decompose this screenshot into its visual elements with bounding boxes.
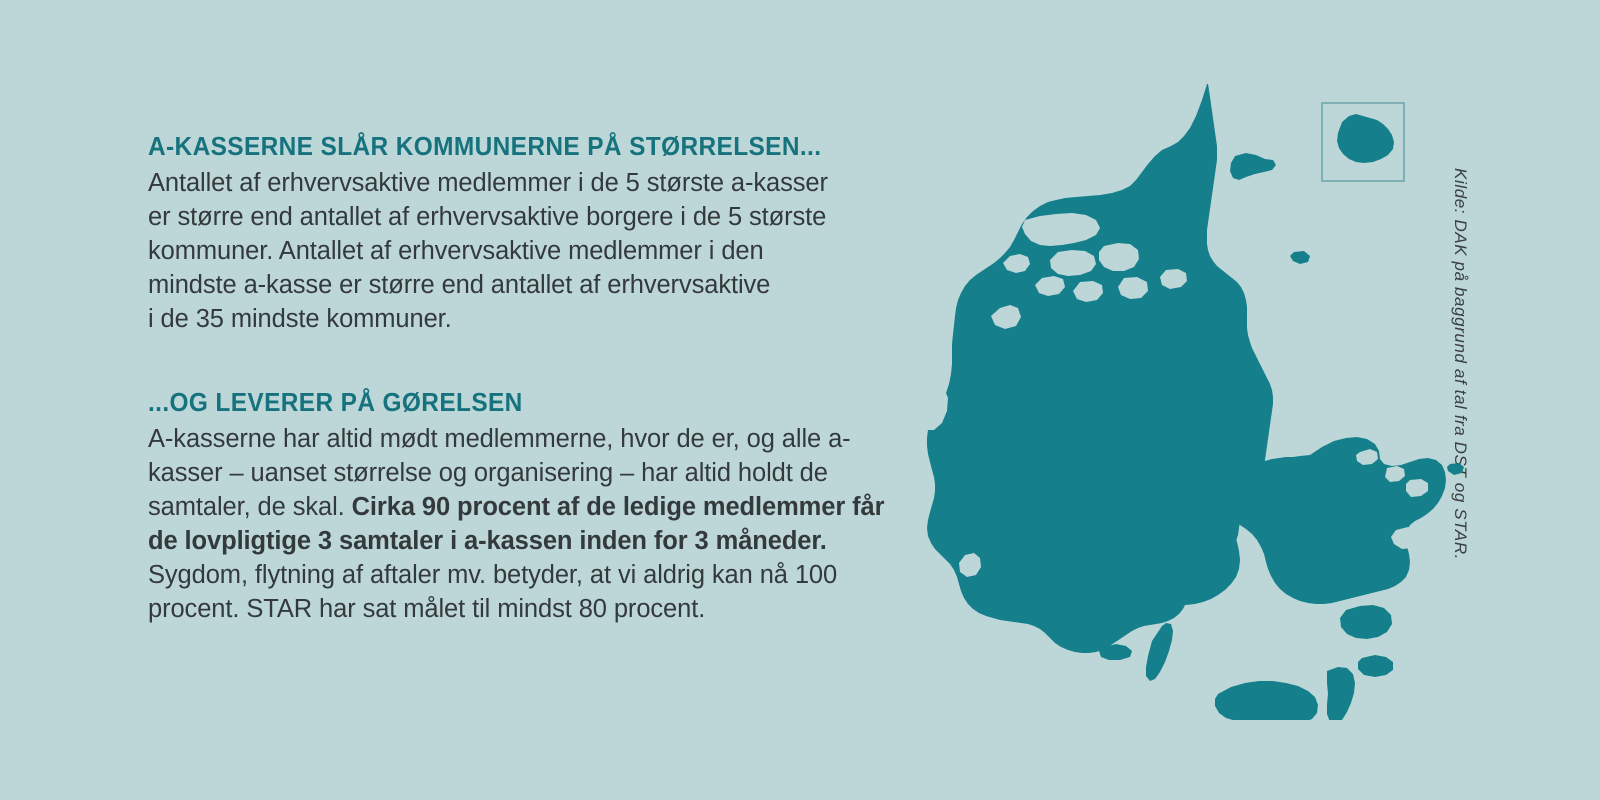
- body-block-1: Antallet af erhvervsaktive medlemmer i d…: [148, 166, 908, 336]
- body-line: i de 35 mindste kommuner.: [148, 305, 452, 333]
- lolland-island: [1215, 681, 1318, 720]
- body-line: mindste a-kasse er større end antallet a…: [148, 271, 770, 299]
- heading-block-1: A-KASSERNE SLÅR KOMMUNERNE PÅ STØRRELSEN…: [148, 132, 862, 162]
- body-line: er større end antallet af erhvervsaktive…: [148, 203, 826, 231]
- body-tail-text: Sygdom, flytning af aftaler mv. betyder,…: [148, 561, 837, 623]
- bornholm-island: [1337, 114, 1394, 163]
- falster-island: [1327, 667, 1355, 720]
- small-island-ne: [1447, 463, 1464, 475]
- stevns-peninsula: [1340, 605, 1392, 639]
- denmark-map: [890, 70, 1490, 720]
- laeso-island: [1230, 153, 1276, 180]
- mon-island: [1358, 655, 1393, 677]
- body-line: Antallet af erhvervsaktive medlemmer i d…: [148, 169, 828, 197]
- body-line: kommuner. Antallet af erhvervsaktive med…: [148, 237, 764, 265]
- text-column: A-KASSERNE SLÅR KOMMUNERNE PÅ STØRRELSEN…: [148, 132, 908, 626]
- anholt-island: [1290, 251, 1310, 264]
- heading-block-2: ...OG LEVERER PÅ GØRELSEN: [148, 388, 862, 418]
- langeland-island: [1146, 623, 1173, 681]
- denmark-map-svg: [890, 70, 1490, 720]
- body-block-2: A-kasserne har altid mødt medlemmerne, h…: [148, 422, 908, 626]
- infographic-canvas: A-KASSERNE SLÅR KOMMUNERNE PÅ STØRRELSEN…: [0, 0, 1600, 800]
